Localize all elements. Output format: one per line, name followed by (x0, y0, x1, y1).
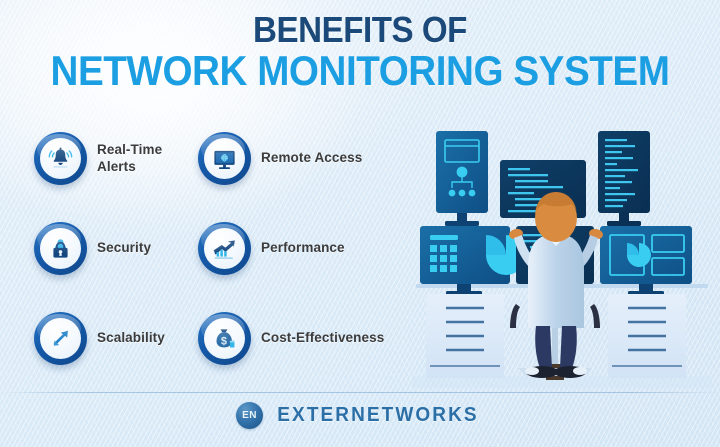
logo-mark: EN (236, 402, 263, 429)
benefit-label: Cost-Effectiveness (261, 330, 384, 347)
benefit-label: Real-TimeAlerts (97, 142, 162, 176)
benefit-icon-badge (34, 132, 87, 185)
bell-icon (40, 138, 81, 179)
benefit-icon-badge: $ (198, 312, 251, 365)
logo-wordmark: EXTERNETWORKS (277, 404, 478, 427)
page-title-line-2: NETWORK MONITORING SYSTEM (29, 50, 691, 92)
benefit-icon-badge (34, 222, 87, 275)
expand-arrows-icon (40, 318, 81, 359)
server-rack-left (426, 294, 504, 378)
benefit-label: Performance (261, 240, 345, 257)
infographic-canvas: BENEFITS OF NETWORK MONITORING SYSTEM (0, 0, 720, 447)
benefit-item-scalability[interactable]: Scalability (34, 312, 198, 365)
benefits-list: Real-TimeAlerts (34, 132, 434, 402)
server-rack-right (608, 294, 686, 378)
monitor-top-left (436, 131, 488, 226)
monitor-globe-icon (204, 138, 245, 179)
benefit-item-real-time-alerts[interactable]: Real-TimeAlerts (34, 132, 198, 185)
footer-divider (0, 392, 720, 393)
money-bag-icon: $ (204, 318, 245, 359)
network-operations-center-illustration (412, 118, 712, 388)
page-title-line-1: BENEFITS OF (29, 12, 691, 48)
growth-chart-icon (204, 228, 245, 269)
monitor-top-right (598, 131, 650, 226)
benefit-icon-badge (198, 132, 251, 185)
benefit-item-remote-access[interactable]: Remote Access (198, 132, 412, 185)
benefit-label: Scalability (97, 330, 165, 347)
benefit-item-cost-effectiveness[interactable]: $ Cost-Effectiveness (198, 312, 412, 365)
benefit-icon-badge (34, 312, 87, 365)
benefit-item-performance[interactable]: Performance (198, 222, 412, 275)
page-title: BENEFITS OF NETWORK MONITORING SYSTEM (0, 12, 720, 92)
benefit-item-security[interactable]: Security (34, 222, 198, 275)
svg-text:$: $ (221, 335, 227, 347)
benefit-icon-badge (198, 222, 251, 275)
footer-branding: EN EXTERNETWORKS (0, 402, 720, 429)
benefit-label: Remote Access (261, 150, 362, 167)
benefit-row: Real-TimeAlerts (34, 132, 434, 222)
padlock-user-icon (40, 228, 81, 269)
benefit-row: Scalability $ Cost-Eff (34, 312, 434, 402)
benefit-label: Security (97, 240, 151, 257)
benefit-row: Security (34, 222, 434, 312)
